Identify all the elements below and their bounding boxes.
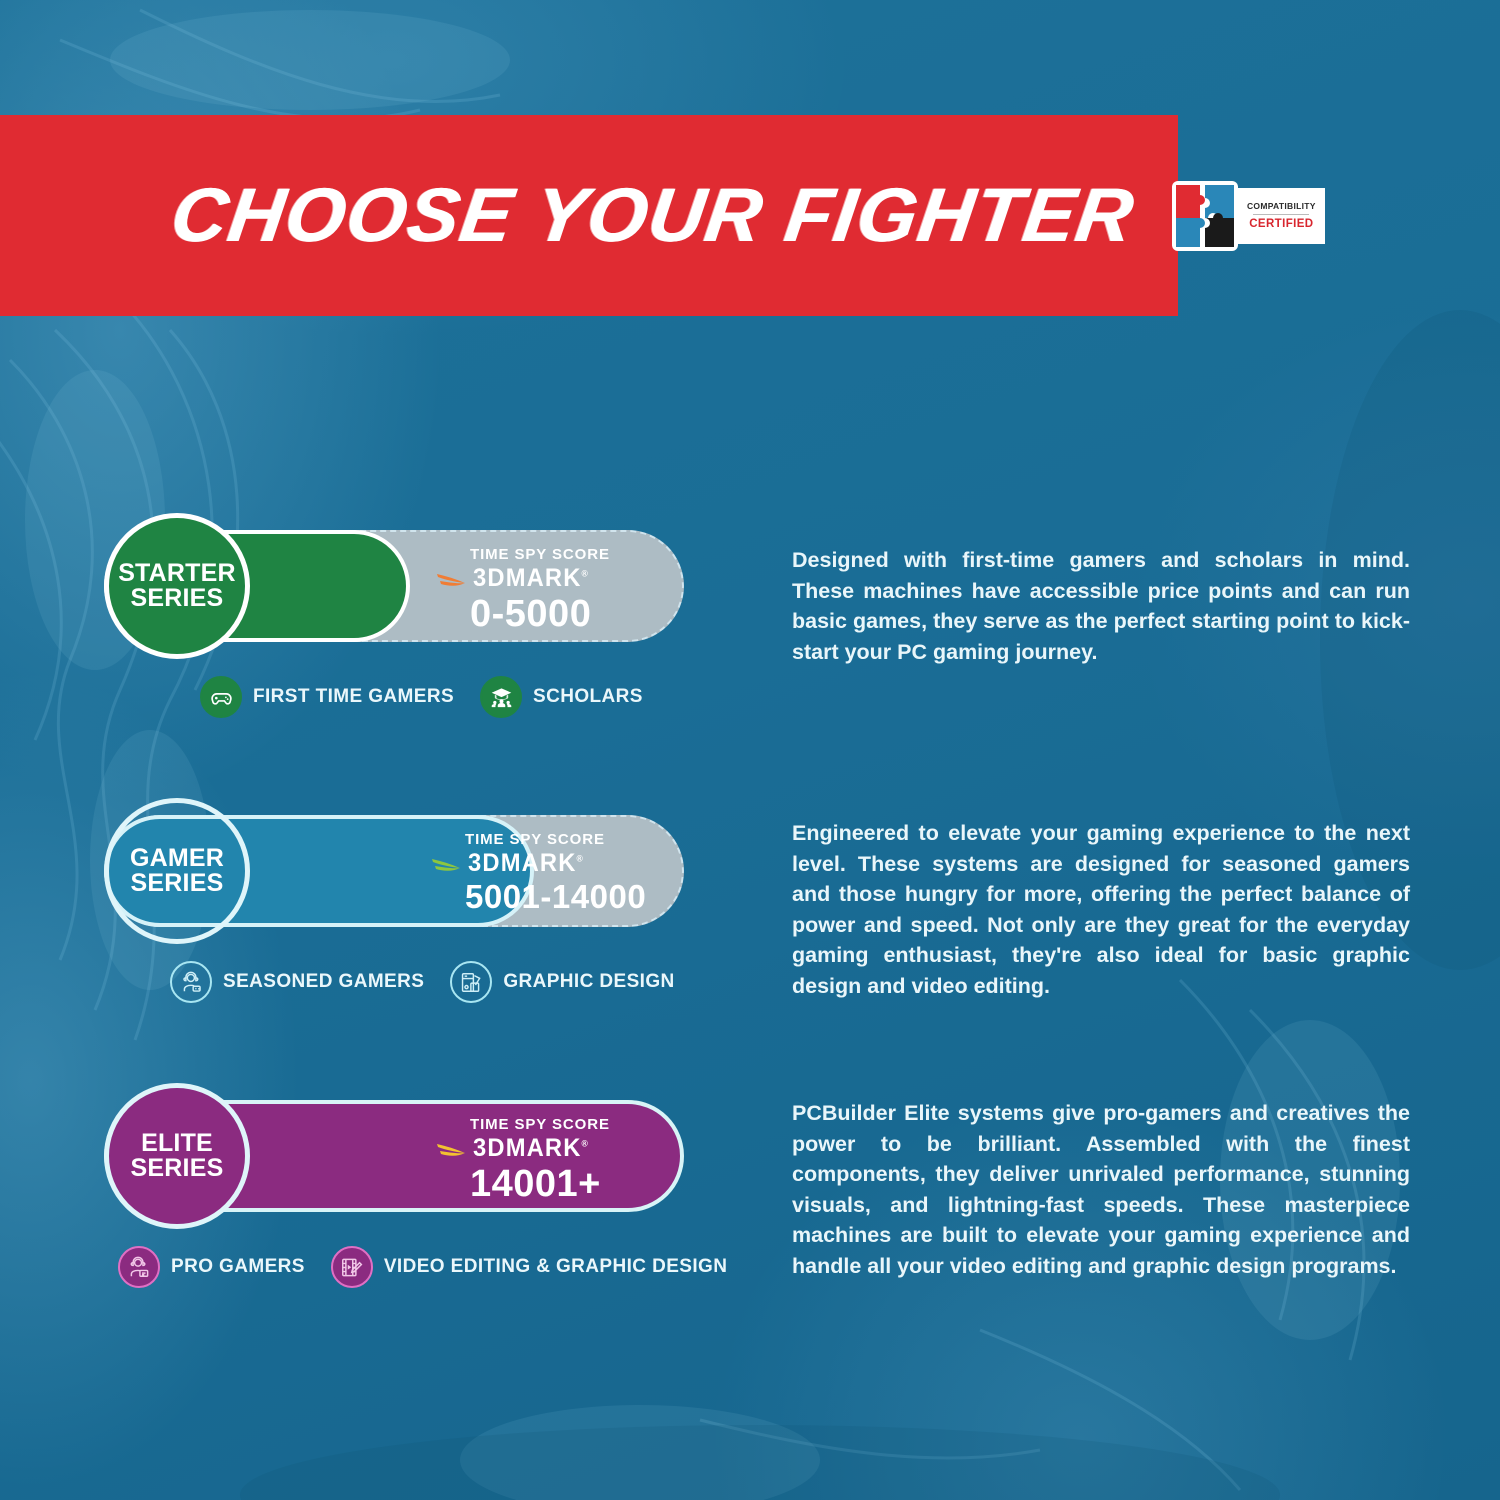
tier-badge-label: ELITESERIES [131, 1131, 224, 1182]
score-block: TIME SPY SCORE 3DMARK® 0-5000 [436, 546, 610, 633]
3dmark-wordmark: 3DMARK® [473, 1134, 589, 1163]
scholars-icon [480, 676, 522, 718]
tier-tags-starter: FIRST TIME GAMERS SCHOLARS [200, 676, 669, 718]
3dmark-wordmark: 3DMARK® [468, 849, 584, 878]
tier-badge-gamer[interactable]: GAMERSERIES [104, 798, 250, 944]
3dmark-logo: 3DMARK® [436, 1134, 592, 1163]
tag-graphic-design[interactable]: GRAPHIC DESIGN [450, 961, 674, 1003]
tag-scholars[interactable]: SCHOLARS [480, 676, 643, 718]
tag-first-time-gamers[interactable]: FIRST TIME GAMERS [200, 676, 454, 718]
score-block: TIME SPY SCORE 3DMARK® 5001-14000 [431, 831, 646, 913]
certified-line-2: CERTIFIED [1249, 218, 1313, 230]
tag-label: VIDEO EDITING & GRAPHIC DESIGN [384, 1256, 727, 1278]
score-block: TIME SPY SCORE 3DMARK® 14001+ [436, 1116, 610, 1203]
score-track: ELITESERIES TIME SPY SCORE 3DMARK® 14001… [104, 1100, 684, 1212]
3dmark-swoosh-icon [436, 568, 466, 590]
puzzle-icon [1171, 180, 1239, 252]
tier-badge-label: STARTERSERIES [118, 561, 236, 612]
score-value: 0-5000 [470, 595, 591, 633]
score-track: GAMERSERIES TIME SPY SCORE 3DMARK® 5001-… [104, 815, 684, 927]
tag-label: PRO GAMERS [171, 1256, 305, 1278]
gauge-elite: ELITESERIES TIME SPY SCORE 3DMARK® 14001… [104, 1100, 684, 1212]
tier-badge-elite[interactable]: ELITESERIES [104, 1083, 250, 1229]
score-value: 14001+ [470, 1165, 601, 1203]
tag-seasoned-gamers[interactable]: SEASONED GAMERS [170, 961, 424, 1003]
certified-line-1: COMPATIBILITY [1247, 201, 1316, 211]
header-banner: CHOOSE YOUR FIGHTER COMPATIBILITY CERTIF… [0, 115, 1178, 316]
3dmark-swoosh-icon [431, 853, 461, 875]
3dmark-wordmark: 3DMARK® [473, 564, 589, 593]
score-caption: TIME SPY SCORE [470, 546, 610, 563]
tier-tags-gamer: SEASONED GAMERS GRAPHIC DESIGN [170, 961, 701, 1003]
gauge-gamer: GAMERSERIES TIME SPY SCORE 3DMARK® 5001-… [104, 815, 684, 927]
gauge-starter: STARTERSERIES TIME SPY SCORE 3DMARK® 0-5… [104, 530, 684, 642]
certified-divider [1253, 214, 1309, 215]
tag-label: GRAPHIC DESIGN [503, 971, 674, 993]
tag-label: FIRST TIME GAMERS [253, 686, 454, 708]
tag-label: SEASONED GAMERS [223, 971, 424, 993]
pro-gamer-icon [118, 1246, 160, 1288]
video-editing-icon [331, 1246, 373, 1288]
score-caption: TIME SPY SCORE [465, 831, 605, 848]
score-track: STARTERSERIES TIME SPY SCORE 3DMARK® 0-5… [104, 530, 684, 642]
headset-gamer-icon [170, 961, 212, 1003]
graphic-design-icon [450, 961, 492, 1003]
tier-badge-starter[interactable]: STARTERSERIES [104, 513, 250, 659]
tag-video-editing-graphic-design[interactable]: VIDEO EDITING & GRAPHIC DESIGN [331, 1246, 727, 1288]
certified-plate: COMPATIBILITY CERTIFIED [1237, 188, 1325, 244]
compatibility-certified-badge: COMPATIBILITY CERTIFIED [1171, 180, 1325, 252]
3dmark-logo: 3DMARK® [436, 564, 592, 593]
3dmark-logo: 3DMARK® [431, 849, 587, 878]
page-title: CHOOSE YOUR FIGHTER [167, 178, 1139, 254]
score-caption: TIME SPY SCORE [470, 1116, 610, 1133]
tag-pro-gamers[interactable]: PRO GAMERS [118, 1246, 305, 1288]
tier-badge-label: GAMERSERIES [130, 846, 224, 897]
3dmark-swoosh-icon [436, 1138, 466, 1160]
score-value: 5001-14000 [465, 880, 646, 913]
tier-tags-elite: PRO GAMERS VIDEO EDITING & GRAPHIC DESIG… [118, 1246, 753, 1288]
tag-label: SCHOLARS [533, 686, 643, 708]
gamepad-icon [200, 676, 242, 718]
